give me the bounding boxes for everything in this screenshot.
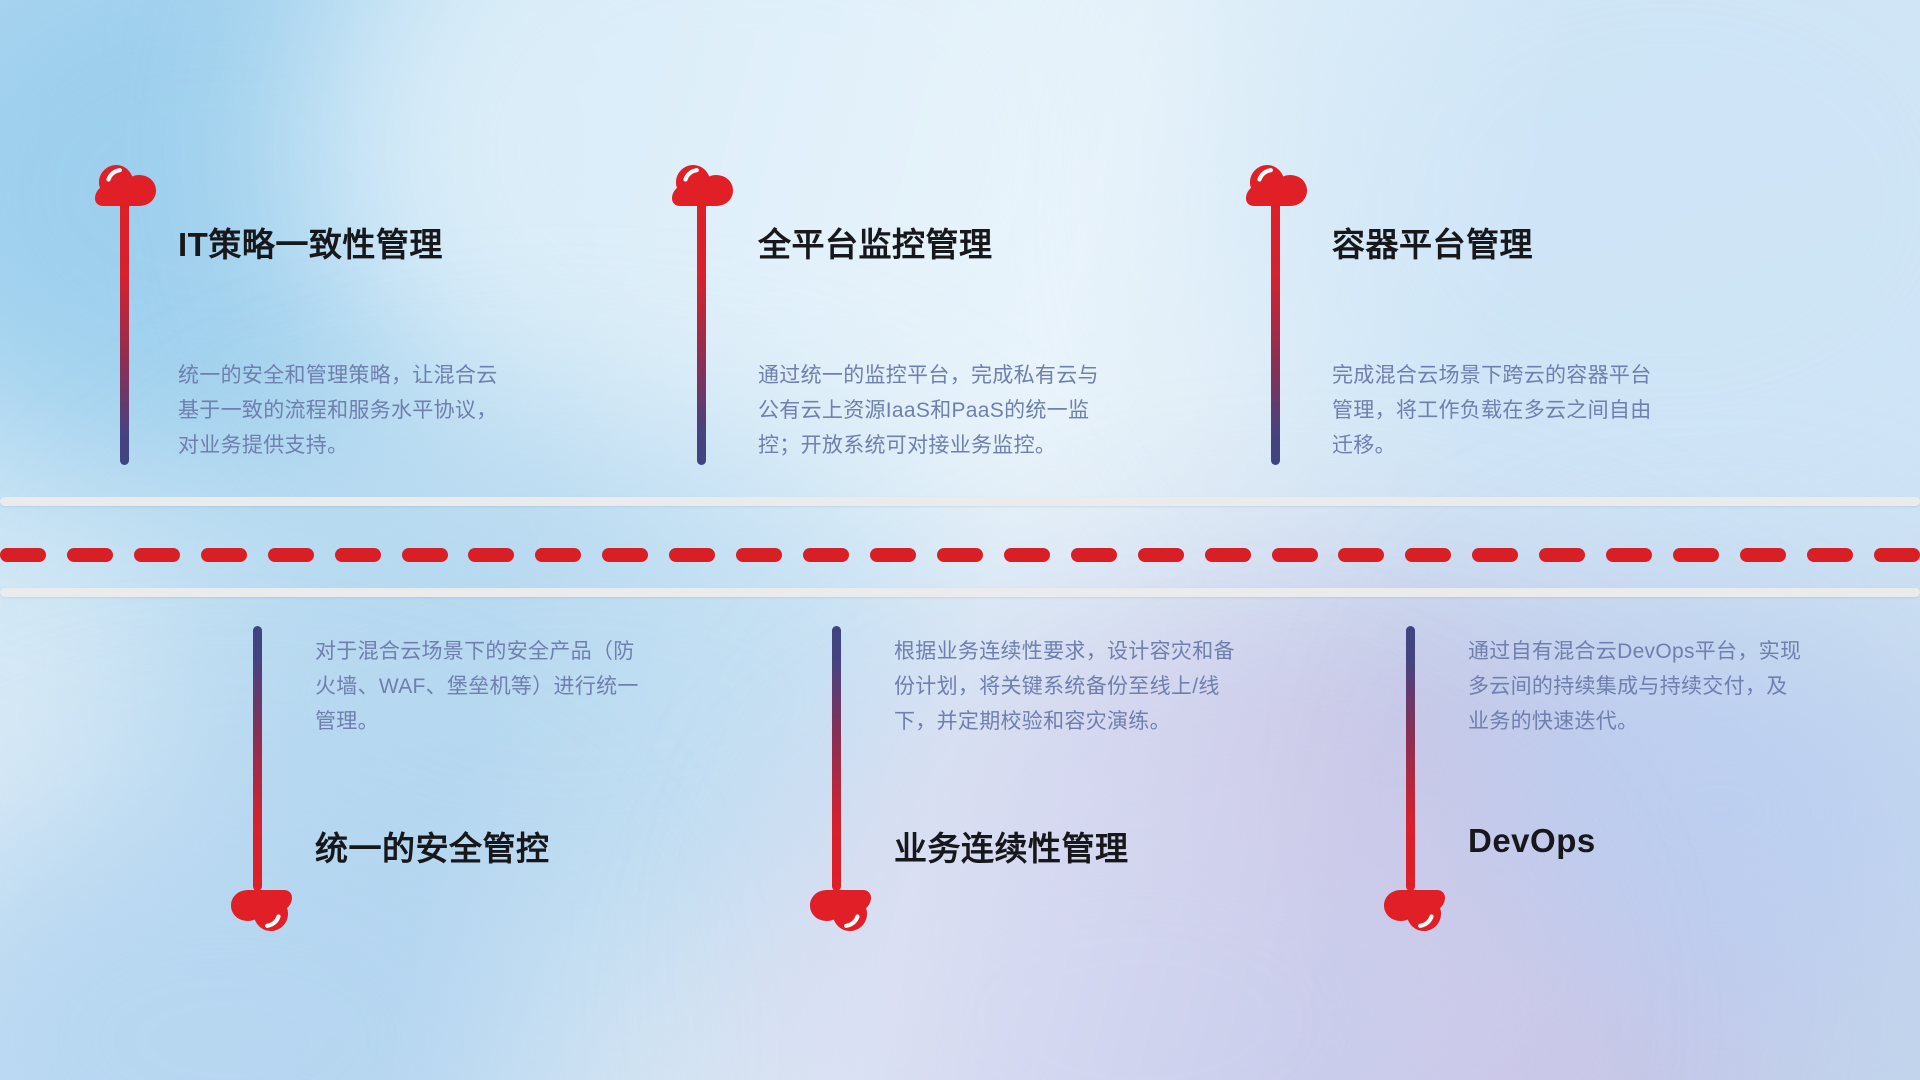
- feature-description: 通过自有混合云DevOps平台，实现多云间的持续集成与持续交付，及业务的快速迭代…: [1468, 634, 1808, 739]
- feature-title: IT策略一致性管理: [178, 218, 443, 266]
- divider-dash: [1071, 548, 1117, 562]
- infographic-canvas: IT策略一致性管理 统一的安全和管理策略，让混合云基于一致的流程和服务水平协议，…: [0, 0, 1920, 1080]
- connector-line: [253, 626, 262, 891]
- feature-title: 统一的安全管控: [315, 822, 550, 870]
- connector-line: [832, 626, 841, 891]
- connector-line: [1406, 626, 1415, 891]
- feature-title: 全平台监控管理: [758, 218, 993, 266]
- divider-dash: [201, 548, 247, 562]
- divider-dash: [402, 548, 448, 562]
- connector-line: [1271, 200, 1280, 465]
- divider-dash: [134, 548, 180, 562]
- feature-description: 完成混合云场景下跨云的容器平台管理，将工作负载在多云之间自由迁移。: [1332, 358, 1672, 463]
- divider-dash: [937, 548, 983, 562]
- divider-dash: [535, 548, 581, 562]
- divider-dash: [268, 548, 314, 562]
- divider-dash: [335, 548, 381, 562]
- feature-title: 业务连续性管理: [894, 822, 1129, 870]
- divider-dash: [1673, 548, 1719, 562]
- divider-rule-bottom: [0, 588, 1920, 597]
- divider-dash: [1874, 548, 1920, 562]
- connector-line: [697, 200, 706, 465]
- feature-description: 对于混合云场景下的安全产品（防火墙、WAF、堡垒机等）进行统一管理。: [315, 634, 655, 739]
- divider-dash: [1807, 548, 1853, 562]
- divider-dash: [1472, 548, 1518, 562]
- divider-dash: [602, 548, 648, 562]
- divider-dash: [1004, 548, 1050, 562]
- divider-dash: [0, 548, 46, 562]
- divider-dash: [468, 548, 514, 562]
- divider-dash: [1272, 548, 1318, 562]
- divider-dashed-line: [0, 548, 1920, 562]
- feature-description: 通过统一的监控平台，完成私有云与公有云上资源IaaS和PaaS的统一监控；开放系…: [758, 358, 1118, 463]
- divider-dash: [736, 548, 782, 562]
- feature-title: 容器平台管理: [1332, 218, 1533, 266]
- cloud-icon: [807, 888, 871, 936]
- feature-description: 根据业务连续性要求，设计容灾和备份计划，将关键系统备份至线上/线下，并定期校验和…: [894, 634, 1254, 739]
- connector-line: [120, 200, 129, 465]
- feature-title: DevOps: [1468, 822, 1596, 860]
- divider-dash: [803, 548, 849, 562]
- cloud-icon: [228, 888, 292, 936]
- feature-description: 统一的安全和管理策略，让混合云基于一致的流程和服务水平协议，对业务提供支持。: [178, 358, 518, 463]
- divider-dash: [1539, 548, 1585, 562]
- divider-rule-top: [0, 497, 1920, 506]
- divider-dash: [1338, 548, 1384, 562]
- divider-dash: [1205, 548, 1251, 562]
- divider-dash: [67, 548, 113, 562]
- divider-dash: [669, 548, 715, 562]
- divider-dash: [1405, 548, 1451, 562]
- divider-dash: [1138, 548, 1184, 562]
- cloud-icon: [1381, 888, 1445, 936]
- divider-dash: [1740, 548, 1786, 562]
- divider-dash: [1606, 548, 1652, 562]
- divider-dash: [870, 548, 916, 562]
